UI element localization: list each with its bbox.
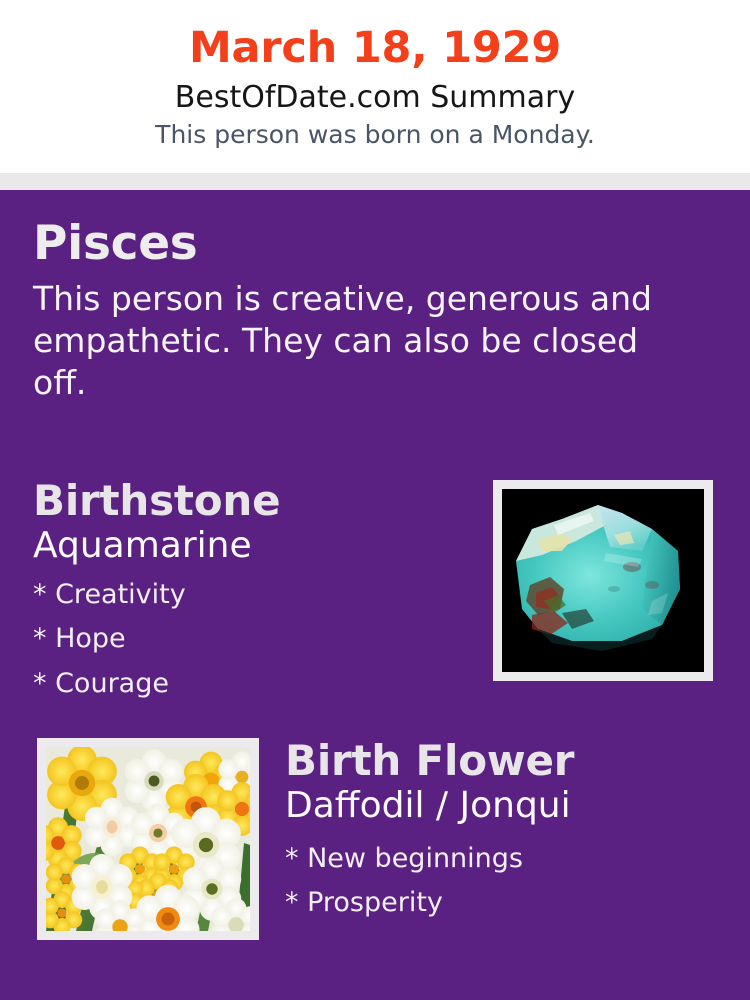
zodiac-sign-title: Pisces — [33, 218, 713, 270]
page-title-date: March 18, 1929 — [0, 0, 750, 71]
birth-flower-traits-list: * New beginnings * Prosperity — [285, 827, 735, 927]
birth-flower-image-frame — [37, 738, 259, 940]
birthstone-title: Birthstone — [33, 478, 473, 524]
birthstone-name: Aquamarine — [33, 524, 473, 566]
birthstone-block: Birthstone Aquamarine * Creativity * Hop… — [33, 478, 473, 707]
list-item: * Prosperity — [285, 881, 735, 926]
header: March 18, 1929 BestOfDate.com Summary Th… — [0, 0, 750, 173]
list-item: * New beginnings — [285, 837, 735, 882]
list-item: * Creativity — [33, 573, 473, 618]
list-item: * Hope — [33, 617, 473, 662]
aquamarine-crystal-photo — [502, 489, 704, 672]
birth-flower-block: Birth Flower Daffodil / Jonqui * New beg… — [285, 738, 735, 926]
zodiac-description: This person is creative, generous and em… — [33, 270, 701, 404]
summary-card: March 18, 1929 BestOfDate.com Summary Th… — [0, 0, 750, 1000]
daffodil-flowers-photo — [46, 747, 250, 931]
list-item: * Courage — [33, 662, 473, 707]
site-summary-label: BestOfDate.com Summary — [0, 71, 750, 114]
birth-flower-name: Daffodil / Jonqui — [285, 784, 735, 826]
zodiac-block: Pisces This person is creative, generous… — [33, 218, 713, 403]
header-divider — [0, 173, 750, 190]
birth-day-note: This person was born on a Monday. — [0, 114, 750, 148]
birthstone-image-frame — [493, 480, 713, 681]
birthstone-traits-list: * Creativity * Hope * Courage — [33, 567, 473, 707]
birth-flower-title: Birth Flower — [285, 738, 735, 784]
